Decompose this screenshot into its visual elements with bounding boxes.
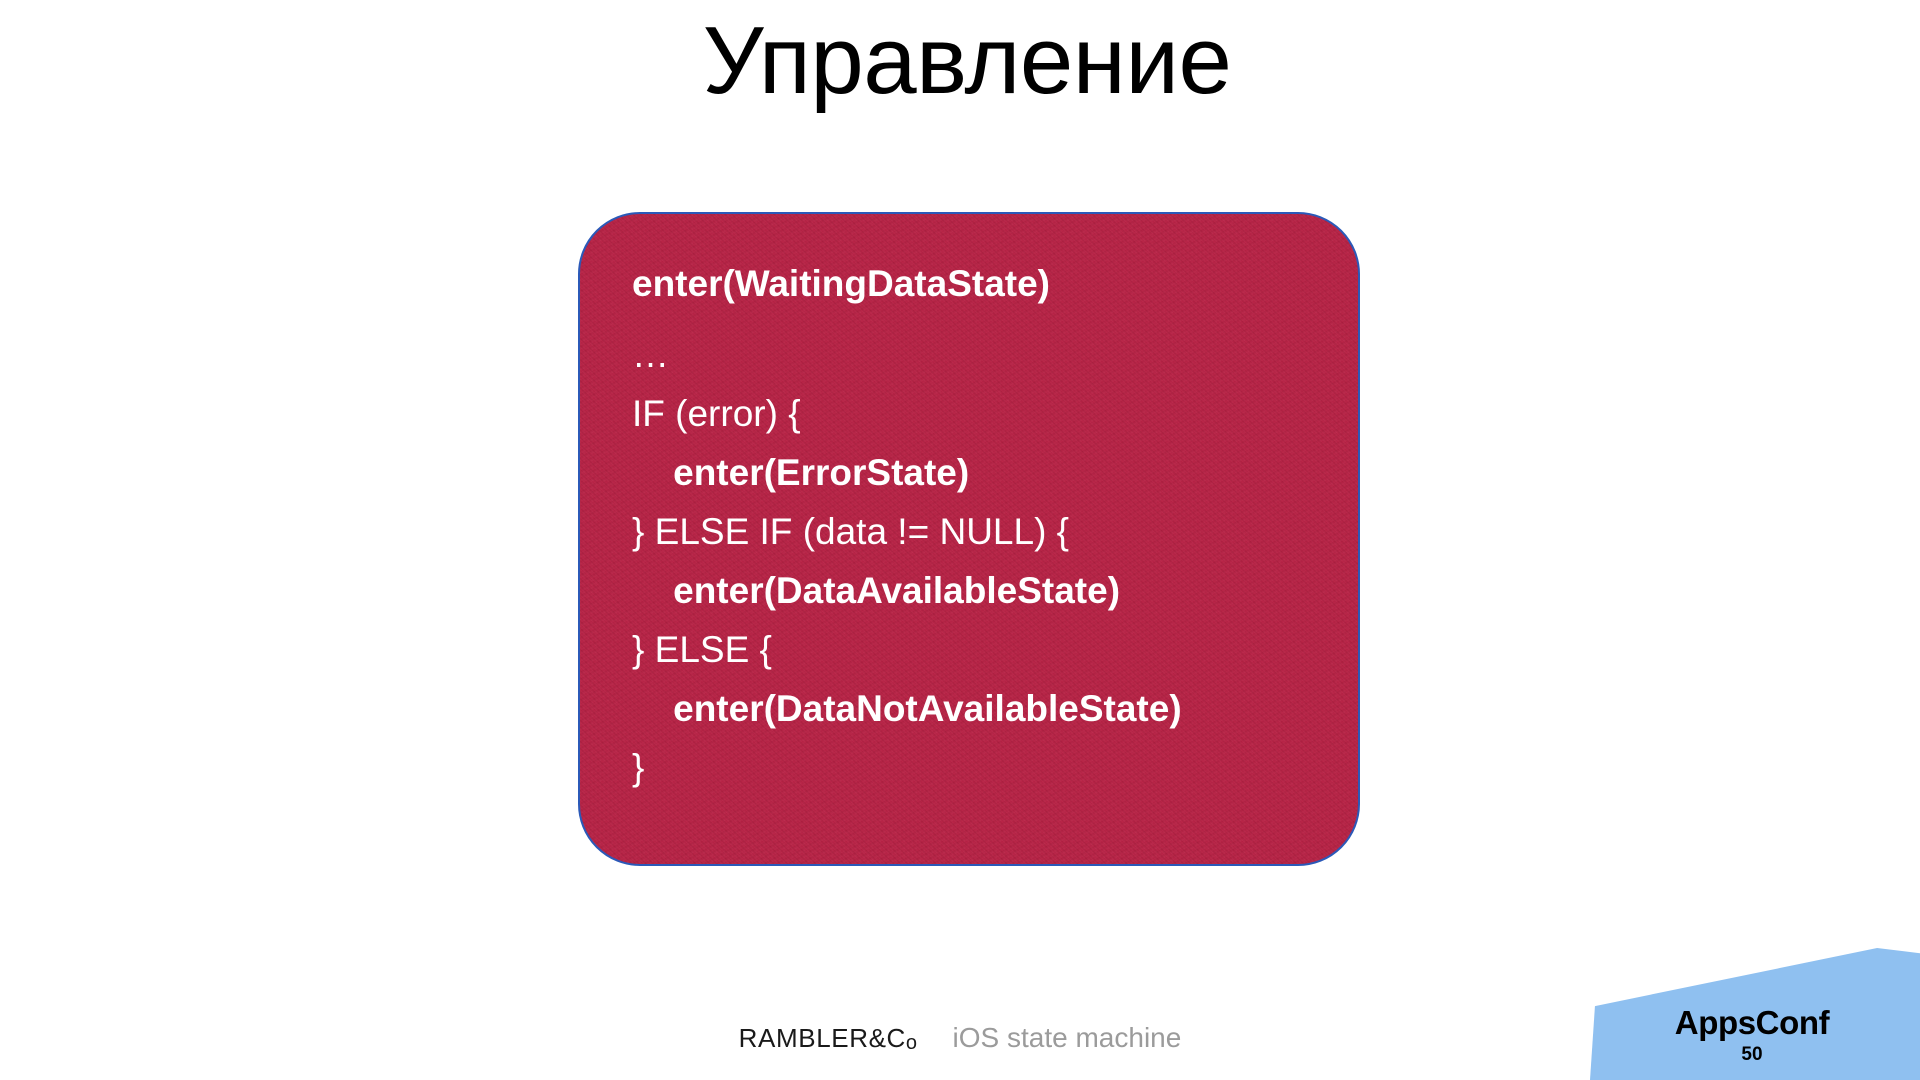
slide-number: 50 bbox=[1590, 1044, 1914, 1066]
appsconf-badge: AppsConf 50 bbox=[1590, 948, 1920, 1080]
rambler-logo-main: RAMBLER&C bbox=[739, 1023, 906, 1053]
code-line: … bbox=[632, 325, 1340, 384]
rambler-logo-suffix: o bbox=[906, 1032, 918, 1054]
code-line: } ELSE IF (data != NULL) { bbox=[632, 502, 1340, 561]
code-line: } bbox=[632, 738, 1340, 797]
code-card: enter(WaitingDataState)…IF (error) { ent… bbox=[578, 212, 1360, 866]
page-title: Управление bbox=[0, 8, 1920, 114]
code-line: } ELSE { bbox=[632, 620, 1340, 679]
code-line: enter(DataAvailableState) bbox=[632, 561, 1340, 620]
page-title-text: Управление bbox=[703, 8, 1232, 114]
rambler-logo: RAMBLER&Co bbox=[739, 1023, 918, 1053]
code-line: IF (error) { bbox=[632, 384, 1340, 443]
appsconf-badge-label: AppsConf bbox=[1590, 1004, 1914, 1042]
code-block: enter(WaitingDataState)…IF (error) { ent… bbox=[632, 254, 1340, 797]
code-line: enter(ErrorState) bbox=[632, 443, 1340, 502]
code-line: enter(WaitingDataState) bbox=[632, 254, 1340, 313]
footer-subject: iOS state machine bbox=[953, 1022, 1182, 1053]
code-line: enter(DataNotAvailableState) bbox=[632, 679, 1340, 738]
